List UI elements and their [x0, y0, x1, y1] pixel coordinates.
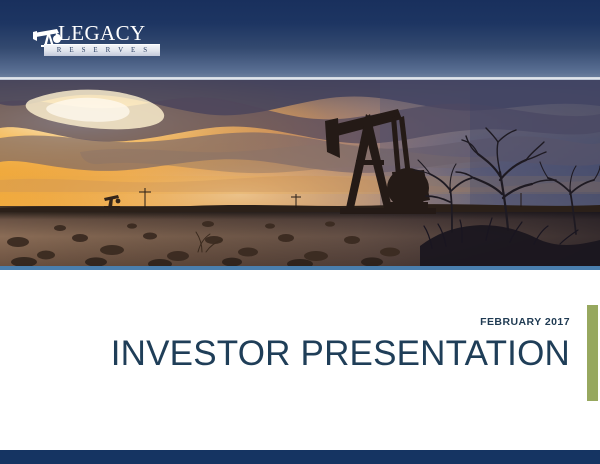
accent-bar: [587, 305, 598, 401]
presentation-date: FEBRUARY 2017: [480, 316, 570, 328]
logo-subtitle-band: R E S E R V E S: [44, 44, 160, 56]
page-title: INVESTOR PRESENTATION: [111, 332, 570, 376]
photo-accent-rule: [0, 266, 600, 270]
presentation-title-slide: LEGACY R E S E R V E S: [0, 0, 600, 464]
hero-photo: [0, 80, 600, 266]
footer-band: [0, 450, 600, 464]
logo-wordmark: LEGACY: [58, 22, 146, 44]
legacy-reserves-logo[interactable]: LEGACY R E S E R V E S: [32, 22, 160, 56]
hero-photo-artwork: [0, 80, 600, 266]
logo-subtitle: R E S E R V E S: [44, 45, 160, 56]
